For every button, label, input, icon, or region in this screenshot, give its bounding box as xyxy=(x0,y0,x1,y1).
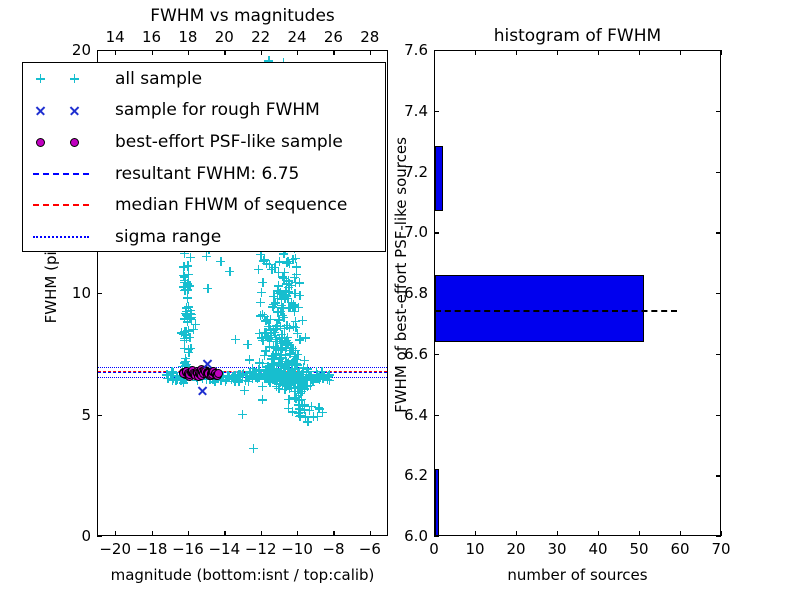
legend-marker xyxy=(23,158,111,190)
legend-marker xyxy=(23,221,111,253)
tick-mark xyxy=(115,531,116,536)
legend-label: all sample xyxy=(115,69,202,89)
legend-entry[interactable]: sigma range xyxy=(23,221,385,253)
tick-mark xyxy=(716,50,721,51)
tick-mark xyxy=(434,232,439,233)
tick-mark xyxy=(333,531,334,536)
xtick-label: 24 xyxy=(288,28,307,46)
ytick-label: 7.0 xyxy=(384,223,428,241)
tick-mark xyxy=(97,415,102,416)
xtick-label: 28 xyxy=(360,28,379,46)
tick-mark xyxy=(639,531,640,536)
xtick-label: 0 xyxy=(429,540,439,558)
legend-label: resultant FWHM: 6.75 xyxy=(115,164,299,184)
tick-mark xyxy=(598,531,599,536)
legend-marker xyxy=(23,190,111,222)
xtick-label: 20 xyxy=(215,28,234,46)
tick-mark xyxy=(188,531,189,536)
histogram-bar xyxy=(435,275,644,342)
tick-mark xyxy=(434,50,439,51)
ytick-label: 6.0 xyxy=(384,527,428,545)
xtick-label: 10 xyxy=(465,540,484,558)
cross-icon xyxy=(35,105,46,116)
xtick-label: −10 xyxy=(281,540,313,558)
legend-marker xyxy=(23,63,111,95)
tick-mark xyxy=(297,50,298,55)
xtick-label: 14 xyxy=(106,28,125,46)
legend-entry[interactable]: resultant FWHM: 6.75 xyxy=(23,158,385,190)
tick-mark xyxy=(434,111,439,112)
histogram-title: histogram of FWHM xyxy=(434,26,721,46)
tick-mark xyxy=(680,531,681,536)
circle-icon xyxy=(70,138,79,147)
median-fhwm-line xyxy=(98,371,387,372)
xtick-label: −18 xyxy=(136,540,168,558)
ytick-label: 7.6 xyxy=(384,41,428,59)
histogram-bar xyxy=(435,469,439,536)
histogram-bar xyxy=(435,146,443,211)
xtick-label: 18 xyxy=(178,28,197,46)
sigma-range-line xyxy=(98,367,387,368)
tick-mark xyxy=(716,475,721,476)
xtick-label: 60 xyxy=(670,540,689,558)
tick-mark xyxy=(152,531,153,536)
tick-mark xyxy=(716,293,721,294)
ytick-label: 6.8 xyxy=(384,284,428,302)
xtick-label: 20 xyxy=(506,540,525,558)
tick-mark xyxy=(333,50,334,55)
tick-mark xyxy=(516,50,517,55)
histogram-xlabel: number of sources xyxy=(434,566,721,584)
tick-mark xyxy=(639,50,640,55)
legend-label: median FHWM of sequence xyxy=(115,195,347,215)
tick-mark xyxy=(261,531,262,536)
cross-icon xyxy=(69,105,80,116)
legend-marker xyxy=(23,126,111,158)
scatter-title: FWHM vs magnitudes xyxy=(97,6,388,26)
legend-entry[interactable]: all sample xyxy=(23,63,385,95)
tick-mark xyxy=(97,536,102,537)
xtick-label: −12 xyxy=(245,540,277,558)
tick-mark xyxy=(716,354,721,355)
circle-icon xyxy=(36,138,45,147)
plus-icon xyxy=(36,74,45,83)
tick-mark xyxy=(370,50,371,55)
tick-mark xyxy=(721,50,722,55)
tick-mark xyxy=(716,172,721,173)
xtick-label: 26 xyxy=(324,28,343,46)
legend-marker xyxy=(23,95,111,127)
tick-mark xyxy=(516,531,517,536)
legend-label: best-effort PSF-like sample xyxy=(115,132,343,152)
sigma-range-line xyxy=(98,377,387,378)
tick-mark xyxy=(434,354,439,355)
legend[interactable]: all samplesample for rough FWHMbest-effo… xyxy=(22,62,386,252)
resultant-fwhm-line xyxy=(98,372,387,373)
tick-mark xyxy=(680,50,681,55)
xtick-label: −8 xyxy=(322,540,344,558)
tick-mark xyxy=(297,531,298,536)
tick-mark xyxy=(188,50,189,55)
tick-mark xyxy=(721,531,722,536)
dashed-line-icon xyxy=(33,173,89,175)
tick-mark xyxy=(716,415,721,416)
ytick-label: 6.2 xyxy=(384,466,428,484)
legend-label: sigma range xyxy=(115,227,221,247)
legend-entry[interactable]: best-effort PSF-like sample xyxy=(23,126,385,158)
plus-icon xyxy=(70,74,79,83)
xtick-label: −20 xyxy=(99,540,131,558)
tick-mark xyxy=(97,293,102,294)
tick-mark xyxy=(434,536,439,537)
tick-mark xyxy=(434,415,439,416)
tick-mark xyxy=(598,50,599,55)
tick-mark xyxy=(557,531,558,536)
tick-mark xyxy=(152,50,153,55)
legend-entry[interactable]: median FHWM of sequence xyxy=(23,190,385,222)
ytick-label: 20 xyxy=(51,41,91,59)
histogram-median-line xyxy=(435,310,677,312)
ytick-label: 6.4 xyxy=(384,406,428,424)
tick-mark xyxy=(97,50,102,51)
ytick-label: 6.6 xyxy=(384,345,428,363)
legend-entry[interactable]: sample for rough FWHM xyxy=(23,95,385,127)
xtick-label: 70 xyxy=(711,540,730,558)
tick-mark xyxy=(475,531,476,536)
tick-mark xyxy=(557,50,558,55)
tick-mark xyxy=(115,50,116,55)
xtick-label: −14 xyxy=(208,540,240,558)
tick-mark xyxy=(716,111,721,112)
tick-mark xyxy=(716,232,721,233)
tick-mark xyxy=(475,50,476,55)
figure-canvas: FWHM vs magnitudes magnitude (bottom:isn… xyxy=(0,0,800,600)
dashed-line-icon xyxy=(33,204,89,206)
ytick-label: 5 xyxy=(51,406,91,424)
tick-mark xyxy=(261,50,262,55)
tick-mark xyxy=(716,536,721,537)
xtick-label: −6 xyxy=(359,540,381,558)
ytick-label: 7.4 xyxy=(384,102,428,120)
xtick-label: 30 xyxy=(547,540,566,558)
ytick-label: 0 xyxy=(51,527,91,545)
ytick-label: 7.2 xyxy=(384,163,428,181)
xtick-label: 22 xyxy=(251,28,270,46)
xtick-label: 50 xyxy=(629,540,648,558)
scatter-xlabel: magnitude (bottom:isnt / top:calib) xyxy=(97,566,388,584)
xtick-label: 40 xyxy=(588,540,607,558)
xtick-label: 16 xyxy=(142,28,161,46)
ytick-label: 10 xyxy=(51,284,91,302)
tick-mark xyxy=(370,531,371,536)
xtick-label: −16 xyxy=(172,540,204,558)
tick-mark xyxy=(224,50,225,55)
dashdot-line-icon xyxy=(33,236,89,238)
tick-mark xyxy=(224,531,225,536)
legend-label: sample for rough FWHM xyxy=(115,100,320,120)
